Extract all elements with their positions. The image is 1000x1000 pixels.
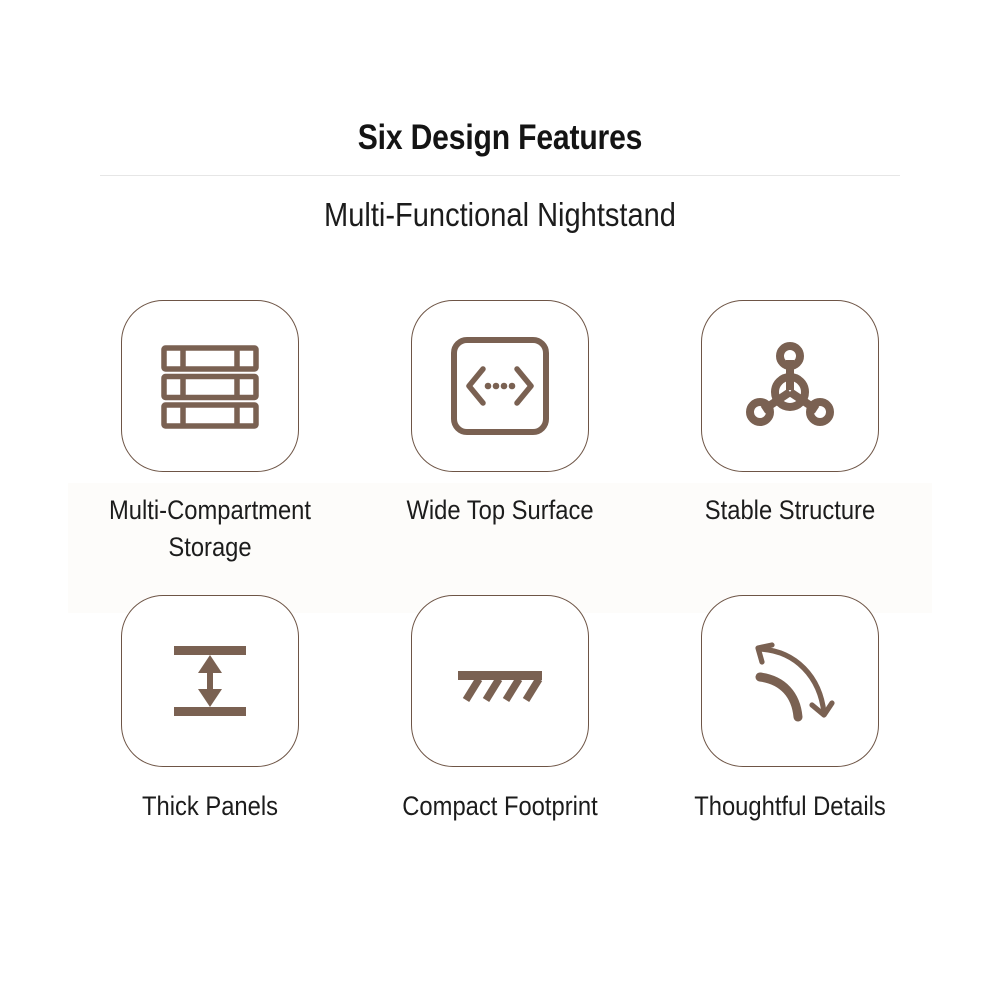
header-divider bbox=[100, 175, 900, 176]
feature-thoughtful-details: Thoughtful Details bbox=[645, 595, 935, 825]
thickness-arrow-icon bbox=[158, 629, 262, 733]
feature-infographic: Six Design Features Multi-Functional Nig… bbox=[0, 0, 1000, 1000]
features-row-1: Multi-Compartment Storage bbox=[0, 300, 1000, 566]
features-row-2: Thick Panels bbox=[0, 595, 1000, 825]
icon-card-multi-compartment-storage bbox=[121, 300, 299, 472]
icon-card-stable-structure bbox=[701, 300, 879, 472]
feature-wide-top-surface: Wide Top Surface bbox=[355, 300, 645, 529]
page-subtitle: Multi-Functional Nightstand bbox=[60, 192, 940, 238]
feature-label-thick-panels: Thick Panels bbox=[78, 788, 342, 825]
feature-label-multi-compartment-storage: Multi-Compartment Storage bbox=[78, 492, 342, 566]
width-measure-icon bbox=[448, 334, 552, 438]
feature-thick-panels: Thick Panels bbox=[65, 595, 355, 825]
feature-label-wide-top-surface: Wide Top Surface bbox=[368, 492, 632, 529]
feature-label-stable-structure: Stable Structure bbox=[658, 492, 922, 529]
page-title: Six Design Features bbox=[70, 0, 930, 160]
curved-double-arrow-icon bbox=[738, 629, 842, 733]
feature-multi-compartment-storage: Multi-Compartment Storage bbox=[65, 300, 355, 566]
feature-label-compact-footprint: Compact Footprint bbox=[368, 788, 632, 825]
header: Six Design Features bbox=[0, 0, 1000, 160]
drawers-icon bbox=[158, 334, 262, 438]
hatched-bar-icon bbox=[448, 629, 552, 733]
molecule-node-icon bbox=[738, 334, 842, 438]
icon-card-thoughtful-details bbox=[701, 595, 879, 767]
feature-stable-structure: Stable Structure bbox=[645, 300, 935, 529]
icon-card-thick-panels bbox=[121, 595, 299, 767]
icon-card-compact-footprint bbox=[411, 595, 589, 767]
feature-label-thoughtful-details: Thoughtful Details bbox=[658, 788, 922, 825]
icon-card-wide-top-surface bbox=[411, 300, 589, 472]
features-grid: Multi-Compartment Storage bbox=[0, 300, 1000, 825]
feature-compact-footprint: Compact Footprint bbox=[355, 595, 645, 825]
